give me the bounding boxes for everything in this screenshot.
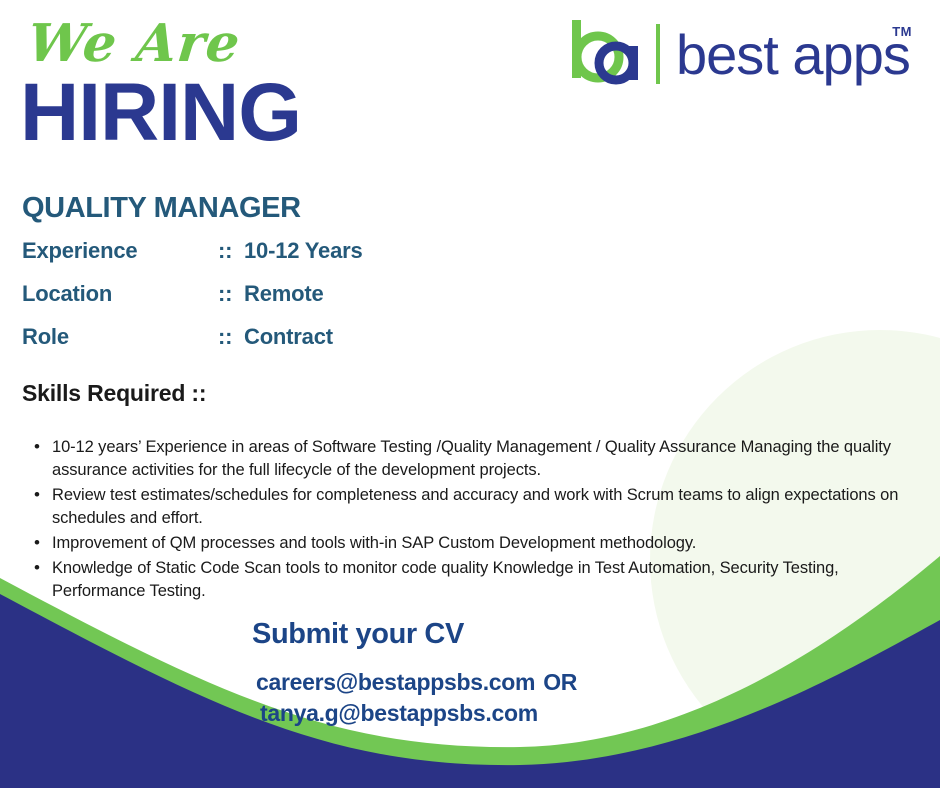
email-link-careers[interactable]: careers@bestappsbs.com	[256, 669, 535, 695]
skills-list-item: 10-12 years’ Experience in areas of Soft…	[30, 436, 910, 482]
logo-divider	[656, 24, 660, 84]
cta-title: Submit your CV	[252, 618, 812, 651]
detail-value-role: Contract	[244, 324, 442, 350]
hiring-poster: We Are HIRING best apps TM QUALITY MANAG…	[0, 0, 940, 788]
logo-wordmark: best apps	[676, 23, 910, 86]
skills-list-item: Knowledge of Static Code Scan tools to m…	[30, 557, 910, 603]
job-details: Experience :: 10-12 Years Location :: Re…	[22, 238, 442, 367]
skills-heading: Skills Required ::	[22, 380, 206, 407]
detail-row-location: Location :: Remote	[22, 281, 442, 324]
skills-list: 10-12 years’ Experience in areas of Soft…	[30, 436, 910, 605]
trademark-symbol: TM	[892, 24, 912, 39]
detail-value-experience: 10-12 Years	[244, 238, 442, 264]
detail-label-role: Role	[22, 324, 218, 350]
detail-separator: ::	[218, 281, 244, 307]
detail-separator: ::	[218, 238, 244, 264]
cta-conjunction: OR	[543, 669, 577, 695]
detail-row-role: Role :: Contract	[22, 324, 442, 367]
email-link-tanya[interactable]: tanya.g@bestappsbs.com	[260, 700, 538, 726]
skills-list-item: Improvement of QM processes and tools wi…	[30, 532, 910, 555]
brand-logo: best apps TM	[564, 12, 924, 96]
job-title: QUALITY MANAGER	[22, 192, 301, 225]
detail-label-experience: Experience	[22, 238, 218, 264]
detail-label-location: Location	[22, 281, 218, 307]
page-title: HIRING	[20, 72, 301, 154]
best-apps-logo-icon: best apps	[564, 12, 924, 96]
eyebrow-we-are: We Are	[25, 18, 243, 70]
call-to-action: Submit your CV careers@bestappsbs.comOR …	[252, 618, 812, 729]
detail-value-location: Remote	[244, 281, 442, 307]
detail-row-experience: Experience :: 10-12 Years	[22, 238, 442, 281]
detail-separator: ::	[218, 324, 244, 350]
cta-email-secondary-row: tanya.g@bestappsbs.com	[260, 698, 812, 729]
cta-email-primary-row: careers@bestappsbs.comOR	[256, 667, 812, 698]
skills-list-item: Review test estimates/schedules for comp…	[30, 484, 910, 530]
